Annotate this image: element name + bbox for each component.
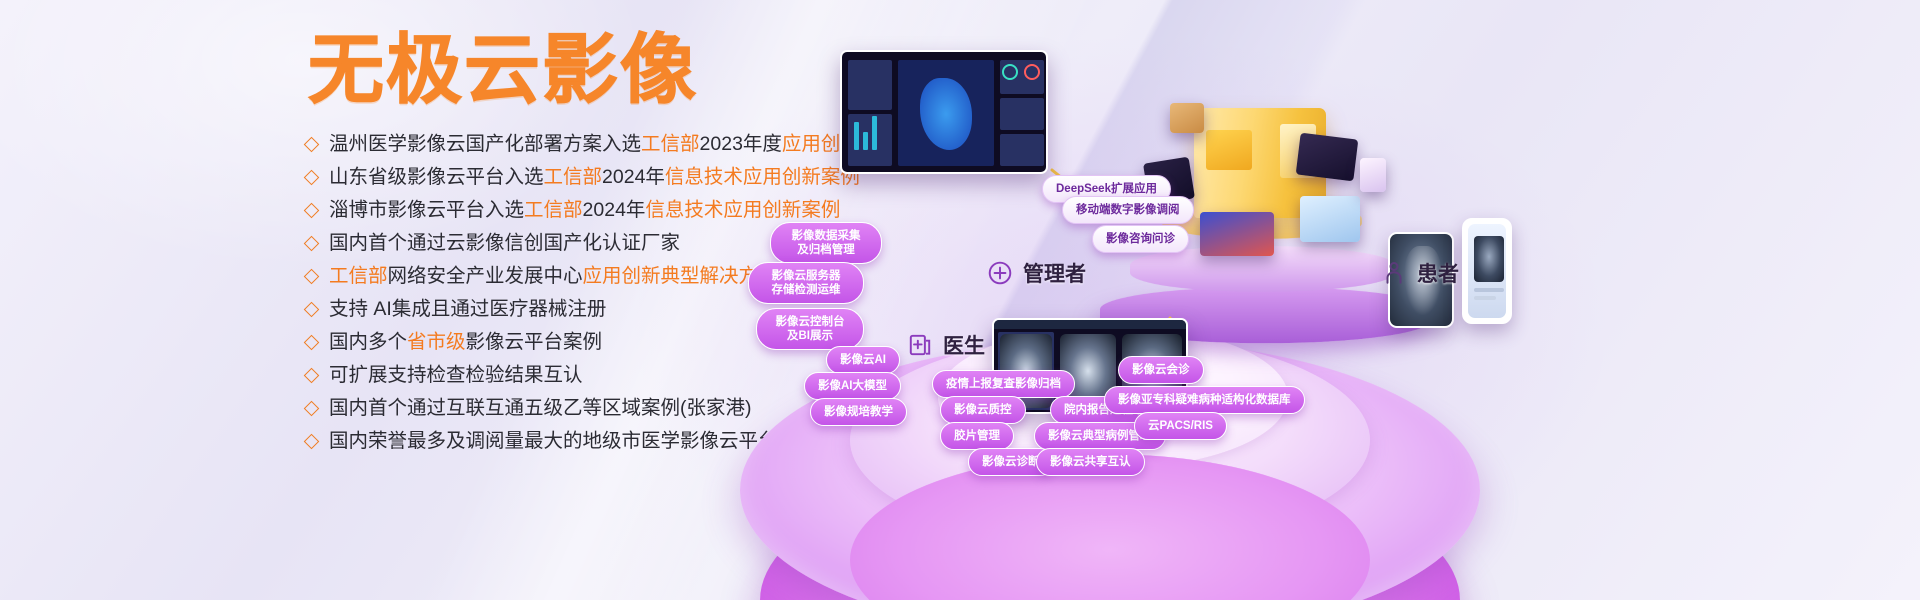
tag-console-bi[interactable]: 影像云控制台 及BI展示 (756, 308, 864, 350)
role-doctor: 医生 (906, 330, 985, 360)
tag-data-collect[interactable]: 影像数据采集 及归档管理 (770, 222, 882, 264)
text-segment: 2024年 (602, 166, 665, 188)
diamond-bullet-icon (304, 401, 320, 417)
tag-epidemic-archive[interactable]: 疫情上报复查影像归档 (932, 370, 1075, 398)
text-segment: 省市级 (407, 331, 466, 353)
page-title: 无极云影像 (308, 27, 698, 113)
text-segment: 工信部 (641, 133, 700, 155)
person-icon (1380, 259, 1408, 287)
text-segment: 淄博市影像云平台入选 (329, 199, 524, 221)
text-segment: 山东省级影像云平台入选 (329, 166, 544, 188)
text-segment: 国内首个通过云影像信创国产化认证厂家 (329, 232, 680, 254)
list-item-text: 国内多个省市级影像云平台案例 (329, 326, 602, 359)
tag-remote-consult[interactable]: 影像咨询问诊 (1092, 225, 1189, 253)
mobile-phone-mockup (1462, 218, 1512, 324)
list-item-text: 国内首个通过互联互通五级乙等区域案例(张家港) (329, 392, 752, 425)
text-segment: 工信部 (544, 166, 603, 188)
role-patient-label: 患者 (1417, 258, 1459, 288)
text-segment: 工信部 (329, 265, 388, 287)
diamond-bullet-icon (304, 434, 320, 450)
platform-architecture-illustration: 管理者 医生 患者 影像数据采集 及归档管理 影像云服务器 存储检测运维 影像云… (700, 0, 1920, 600)
text-segment: 国内多个 (329, 331, 407, 353)
tag-mutual-recognition[interactable]: 影像云共享互认 (1036, 448, 1145, 476)
tag-cloud-ai[interactable]: 影像云AI (826, 346, 900, 374)
diamond-bullet-icon (304, 236, 320, 252)
tag-pacs-ris[interactable]: 云PACS/RIS (1134, 412, 1227, 440)
text-segment: 国内首个通过互联互通五级乙等区域案例(张家港) (329, 397, 752, 419)
tag-ai-model[interactable]: 影像AI大模型 (804, 372, 901, 400)
tag-rare-disease-db[interactable]: 影像亚专科疑难病种适构化数据库 (1104, 386, 1305, 414)
text-segment: 影像云平台案例 (466, 331, 603, 353)
tag-standard-teaching[interactable]: 影像规培教学 (810, 398, 907, 426)
text-segment: 支持 AI集成且通过医疗器械注册 (329, 298, 606, 320)
tag-quality-control[interactable]: 影像云质控 (940, 396, 1026, 424)
role-patient: 患者 (1380, 258, 1459, 288)
diamond-bullet-icon (304, 368, 320, 384)
dashboard-tablet (840, 50, 1048, 174)
diamond-bullet-icon (304, 335, 320, 351)
diamond-bullet-icon (304, 269, 320, 285)
diamond-bullet-icon (304, 170, 320, 186)
text-segment: 网络安全产业发展中心 (388, 265, 583, 287)
diamond-bullet-icon (304, 137, 320, 153)
tag-mobile-view[interactable]: 移动端数字影像调阅 (1062, 196, 1194, 224)
clipboard-plus-icon (906, 331, 934, 359)
diamond-bullet-icon (304, 203, 320, 219)
text-segment: 工信部 (524, 199, 583, 221)
text-segment: 温州医学影像云国产化部署方案入选 (329, 133, 641, 155)
role-doctor-label: 医生 (943, 330, 985, 360)
text-segment: 可扩展支持检查检验结果互认 (329, 364, 583, 386)
tag-film-manage[interactable]: 胶片管理 (940, 422, 1014, 450)
text-segment: 2024年 (583, 199, 646, 221)
role-admin-label: 管理者 (1023, 258, 1086, 288)
plus-circle-icon (986, 259, 1014, 287)
list-item-text: 国内首个通过云影像信创国产化认证厂家 (329, 227, 680, 260)
diamond-bullet-icon (304, 302, 320, 318)
tag-server-ops[interactable]: 影像云服务器 存储检测运维 (748, 262, 864, 304)
role-admin: 管理者 (986, 258, 1086, 288)
list-item-text: 支持 AI集成且通过医疗器械注册 (329, 293, 606, 326)
list-item-text: 可扩展支持检查检验结果互认 (329, 359, 583, 392)
tag-consultation[interactable]: 影像云会诊 (1118, 356, 1204, 384)
